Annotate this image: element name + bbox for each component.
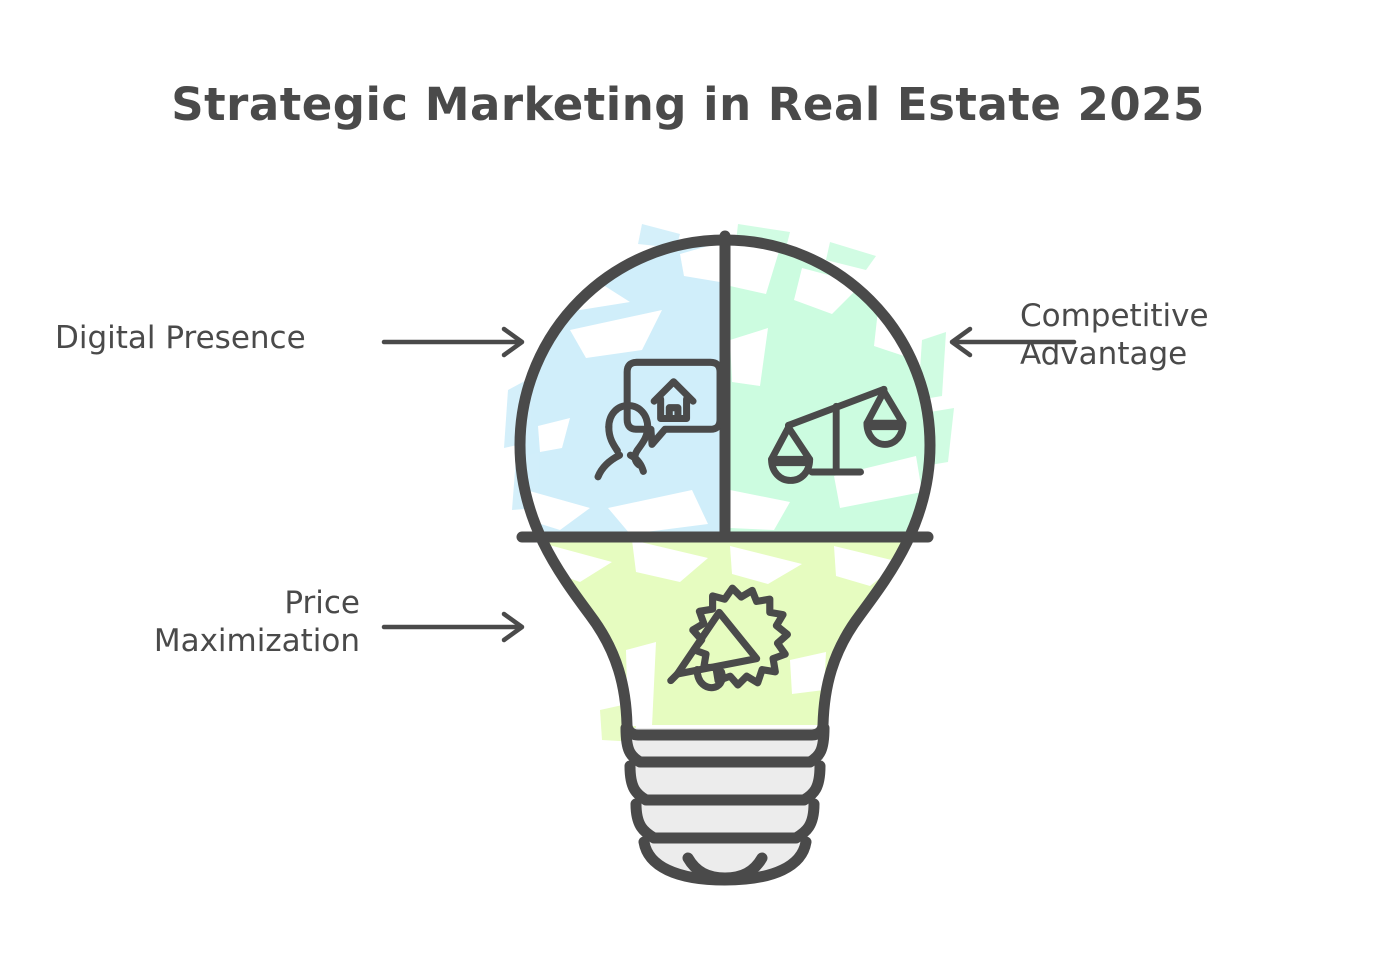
arrow-left-competitive-advantage bbox=[948, 325, 1078, 355]
infographic-canvas: Strategic Marketing in Real Estate 2025 bbox=[0, 0, 1376, 974]
page-title: Strategic Marketing in Real Estate 2025 bbox=[0, 78, 1376, 131]
bulb-screw-base bbox=[626, 728, 824, 880]
lightbulb-diagram bbox=[430, 190, 1020, 910]
label-price-maximization: Price Maximization bbox=[60, 585, 360, 661]
label-digital-presence: Digital Presence bbox=[55, 320, 375, 358]
segment-fill-price-maximization bbox=[505, 530, 950, 742]
arrow-right-price-maximization bbox=[382, 610, 542, 640]
arrow-right-digital-presence bbox=[382, 325, 542, 355]
